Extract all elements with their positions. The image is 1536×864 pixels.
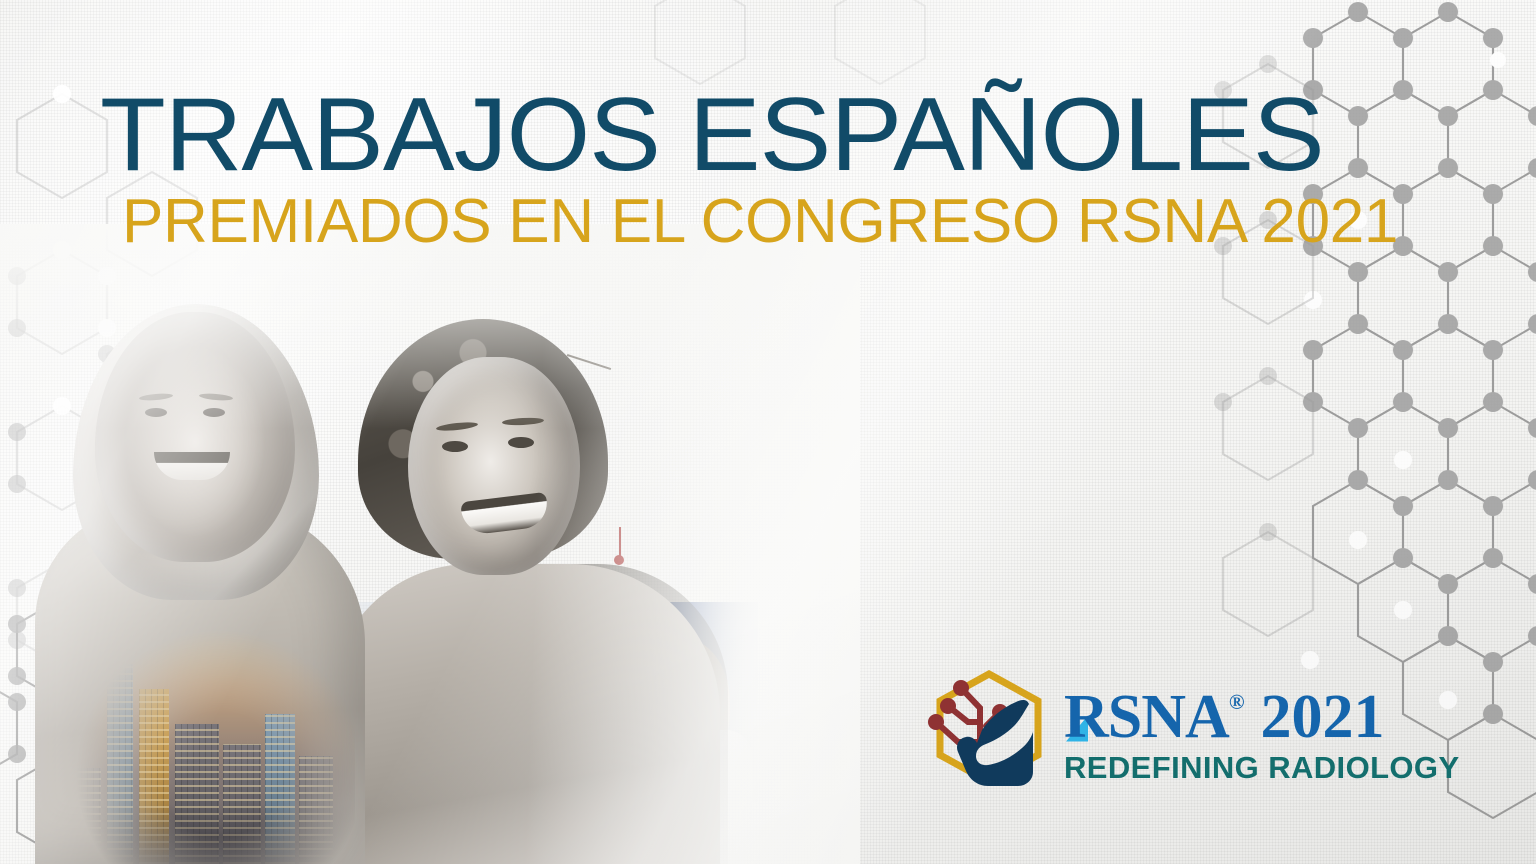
portrait-woman-hijab: [35, 304, 365, 864]
rsna-hexagon-hand-circuit-icon: [928, 668, 1050, 800]
registered-trademark-symbol: ®: [1229, 692, 1245, 713]
red-node-dot: [614, 555, 624, 565]
headline-secondary: PREMIADOS EN EL CONGRESO RSNA 2021: [122, 190, 1440, 253]
poster-canvas: isual: [0, 0, 1536, 864]
rsna-logo: RSNA ® 2021 REDEFINING RADIOLOGY: [928, 668, 1460, 800]
headline-primary: TRABAJOS ESPAÑOLES: [100, 86, 1487, 186]
rsna-year: 2021: [1261, 686, 1385, 748]
photo-collage: isual: [0, 244, 790, 864]
headline-block: TRABAJOS ESPAÑOLES PREMIADOS EN EL CONGR…: [100, 86, 1440, 253]
red-connector-line: [619, 527, 621, 557]
city-skyline-double-exposure: [55, 564, 355, 864]
rsna-tagline: REDEFINING RADIOLOGY: [1064, 752, 1460, 783]
portrait-woman-curly-hair: [330, 319, 720, 864]
rsna-wordmark: RSNA: [1064, 686, 1229, 748]
